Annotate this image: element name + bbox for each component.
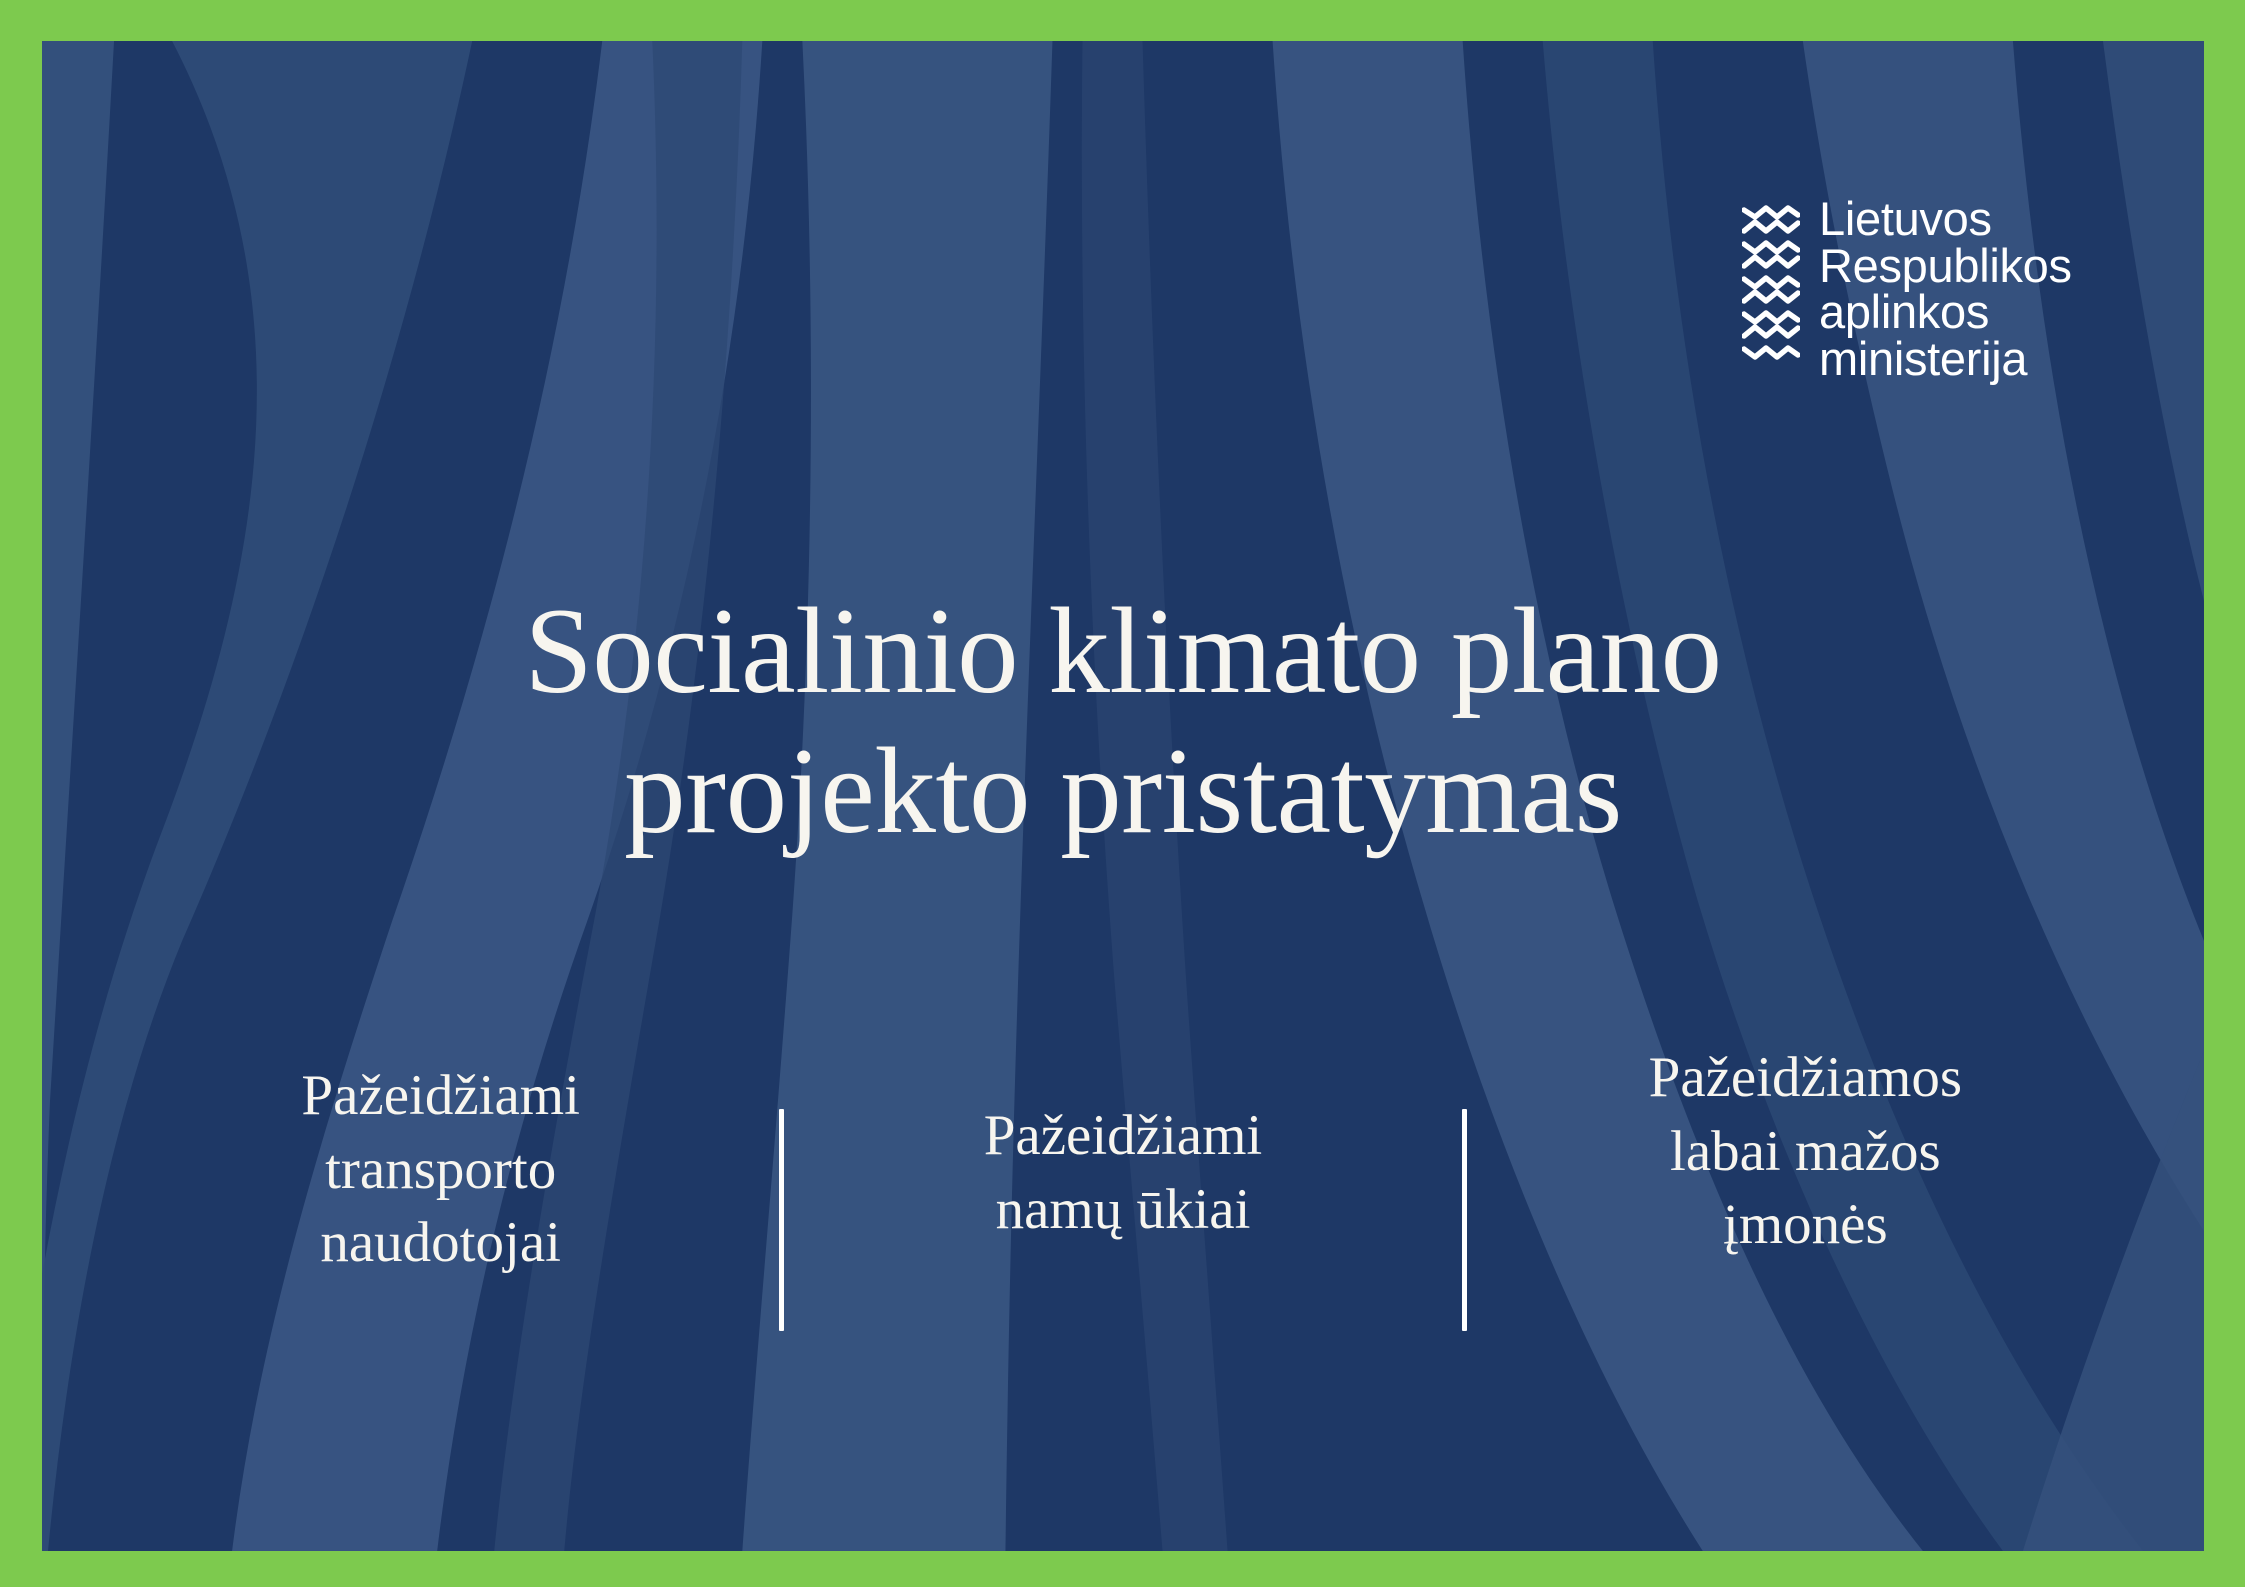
ministry-logo: Lietuvos Respublikos aplinkos ministerij…	[1742, 196, 2072, 382]
audience-label-transport-users: Pažeidžiami transporto naudotojai	[301, 1059, 580, 1280]
wordmark-line-1: Lietuvos	[1819, 196, 2072, 243]
audience-column-microenterprises: Pažeidžiamos labai mažos įmonės	[1467, 1041, 2144, 1262]
title-line-1: Socialinio klimato plano	[42, 581, 2204, 721]
forest-wave-mark-icon	[1742, 202, 1800, 365]
slide-green-frame: Lietuvos Respublikos aplinkos ministerij…	[0, 0, 2245, 1587]
audience-label-households: Pažeidžiami namų ūkiai	[984, 1099, 1263, 1246]
slide-canvas: Lietuvos Respublikos aplinkos ministerij…	[42, 41, 2204, 1551]
wordmark-line-4: ministerija	[1819, 336, 2072, 383]
title-line-2: projekto pristatymas	[42, 721, 2204, 861]
slide-content: Lietuvos Respublikos aplinkos ministerij…	[42, 41, 2204, 1551]
audience-columns: Pažeidžiami transporto naudotojai Pažeid…	[102, 1041, 2144, 1371]
audience-column-transport-users: Pažeidžiami transporto naudotojai	[102, 1041, 779, 1280]
audience-label-microenterprises: Pažeidžiamos labai mažos įmonės	[1649, 1041, 1962, 1262]
wordmark-line-3: aplinkos	[1819, 289, 2072, 336]
audience-column-households: Pažeidžiami namų ūkiai	[784, 1041, 1461, 1246]
slide-title: Socialinio klimato plano projekto prista…	[42, 581, 2204, 861]
wordmark-line-2: Respublikos	[1819, 243, 2072, 290]
ministry-wordmark: Lietuvos Respublikos aplinkos ministerij…	[1819, 196, 2072, 382]
